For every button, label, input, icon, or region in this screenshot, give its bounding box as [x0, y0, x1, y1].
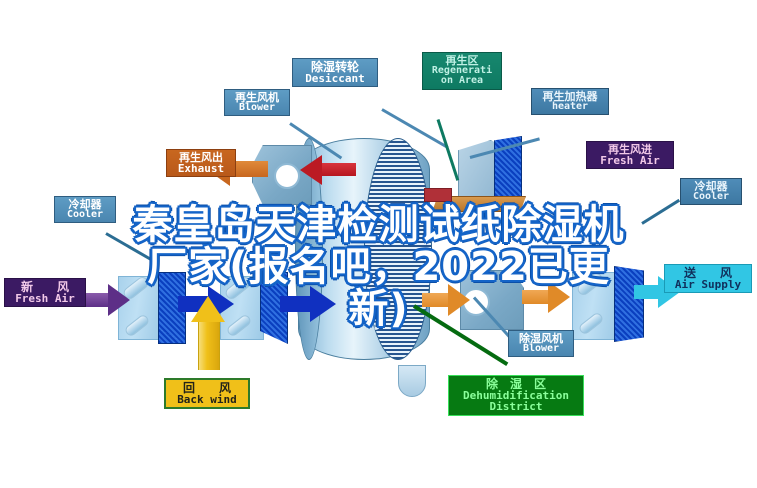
label-desiccant-rotor-en: Desiccant — [297, 73, 373, 84]
label-exhaust-en: Exhaust — [171, 163, 231, 174]
label-regen-area[interactable]: 再生区 Regenerati on Area — [422, 52, 502, 90]
regen-in-arrow — [320, 163, 356, 176]
label-regen-blower-en: Blower — [229, 103, 285, 113]
label-dehum-district[interactable]: 除 湿 区 Dehumidification District — [448, 375, 584, 416]
regen-fan-hole — [274, 163, 300, 189]
label-exhaust[interactable]: 再生风出 Exhaust — [166, 149, 236, 177]
watermark-line-3: 新) — [0, 276, 757, 334]
rotor-seal-strip — [398, 365, 426, 397]
label-dehum-blower-en: Blower — [513, 344, 569, 354]
label-dehum-district-en2: District — [453, 401, 579, 412]
leader-regen-area — [437, 119, 460, 181]
regen-in-arrow-head — [300, 155, 322, 185]
label-regen-air-in[interactable]: 再生风进 Fresh Air — [586, 141, 674, 169]
label-desiccant-rotor[interactable]: 除湿转轮 Desiccant — [292, 58, 378, 87]
label-back-wind-en: Back wind — [170, 394, 244, 405]
diagram-canvas: xt 除湿 — [0, 0, 757, 488]
label-dehum-blower[interactable]: 除湿风机 Blower — [508, 330, 574, 357]
label-regen-heater[interactable]: 再生加热器 heater — [531, 88, 609, 115]
label-regen-area-en2: on Area — [427, 76, 497, 86]
label-regen-blower[interactable]: 再生风机 Blower — [224, 89, 290, 116]
label-back-wind[interactable]: 回 风 Back wind — [164, 378, 250, 409]
label-regen-air-in-en: Fresh Air — [591, 155, 669, 166]
label-regen-heater-en: heater — [536, 102, 604, 112]
